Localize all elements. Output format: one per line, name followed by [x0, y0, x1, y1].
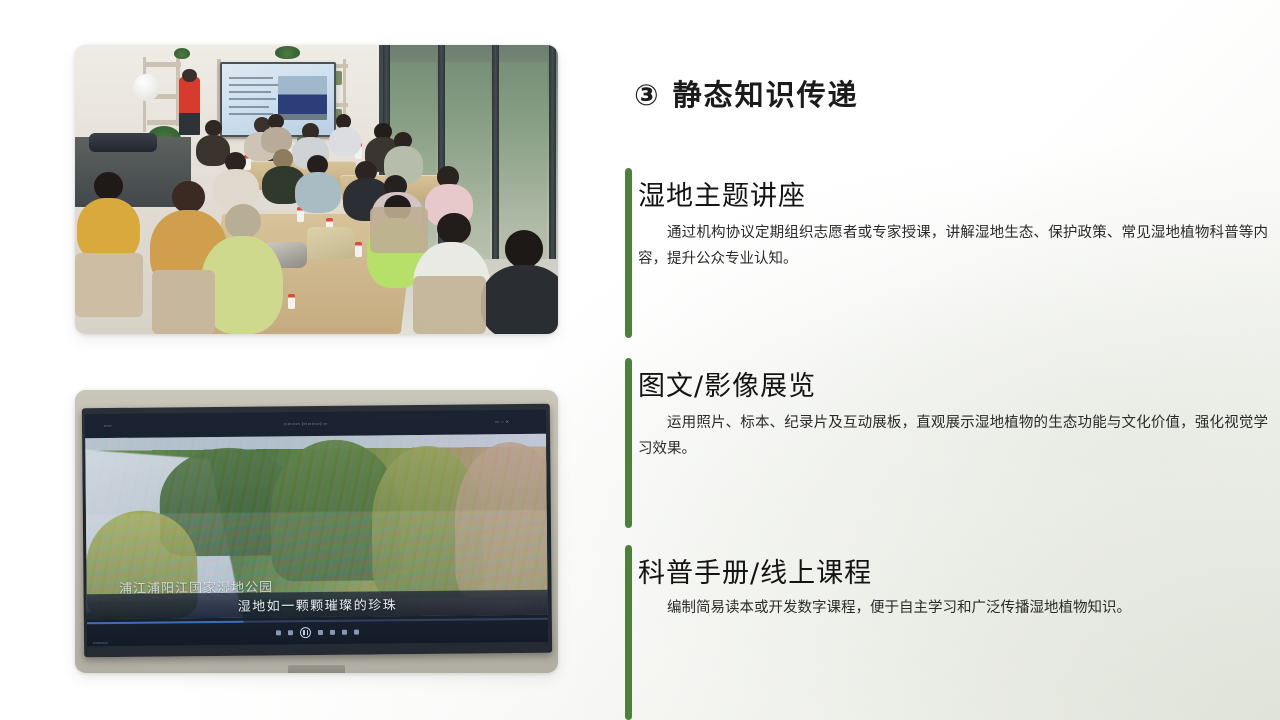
- forward-icon[interactable]: [318, 629, 323, 634]
- section-body: 通过机构协议定期组织志愿者或专家授课，讲解湿地生态、保护政策、常见湿地植物科普等…: [638, 220, 1268, 272]
- audience-head: [94, 172, 123, 199]
- monitor-screen: ▭▭ ▭▭▭▭ (▭▭▭▭) ▭ ▭ ─ ✕ 浦江浦阳江国家湿地公园: [85, 409, 548, 645]
- slide-text-line: [229, 84, 278, 86]
- presenter-head: [182, 69, 196, 82]
- audience-head: [505, 230, 544, 268]
- fullscreen-icon[interactable]: [354, 629, 359, 634]
- slide-text-line: [229, 113, 274, 115]
- slide-text-line: [229, 106, 269, 108]
- next-icon[interactable]: [330, 629, 335, 634]
- tote-bag: [307, 227, 355, 259]
- chair: [413, 276, 485, 334]
- monitor-bezel: ▭▭ ▭▭▭▭ (▭▭▭▭) ▭ ▭ ─ ✕ 浦江浦阳江国家湿地公园: [82, 403, 552, 657]
- shelf-board: [143, 62, 182, 67]
- accent-bar: [625, 358, 632, 528]
- section-body: 运用照片、标本、纪录片及互动展板，直观展示湿地植物的生态功能与文化价值，强化视觉…: [638, 410, 1268, 462]
- player-menu-label: ▭▭: [103, 423, 111, 428]
- playback-controls[interactable]: [87, 622, 548, 642]
- slide-image: [278, 76, 327, 120]
- section-wetland-lecture: 湿地主题讲座 通过机构协议定期组织志愿者或专家授课，讲解湿地生态、保护政策、常见…: [620, 168, 1280, 338]
- slide-text-line: [229, 77, 274, 79]
- accent-bar: [625, 168, 632, 338]
- chair: [152, 270, 215, 334]
- water-bottle: [288, 294, 295, 310]
- audience-head: [172, 181, 206, 213]
- pause-icon[interactable]: [300, 626, 311, 637]
- audience-head: [437, 213, 471, 245]
- audience-person: [213, 169, 259, 209]
- wetland-video-photo[interactable]: ▭▭ ▭▭▭▭ (▭▭▭▭) ▭ ▭ ─ ✕ 浦江浦阳江国家湿地公园: [75, 390, 558, 673]
- section-heading: 图文/影像展览: [638, 364, 816, 403]
- previous-icon[interactable]: [276, 630, 281, 635]
- volume-icon[interactable]: [342, 629, 347, 634]
- slide-canvas: ▭▭ ▭▭▭▭ (▭▭▭▭) ▭ ▭ ─ ✕ 浦江浦阳江国家湿地公园: [0, 0, 1280, 720]
- accent-bar: [625, 545, 632, 720]
- water-bottle: [355, 242, 362, 258]
- lecture-room-photo-content: [75, 45, 558, 334]
- audience-person: [295, 172, 341, 212]
- monitor-stand: [288, 665, 346, 673]
- presenter-figure: [179, 77, 200, 135]
- counter-bag: [89, 133, 157, 152]
- player-title-label: ▭▭▭▭ (▭▭▭▭) ▭: [283, 421, 327, 426]
- audience-person: [329, 127, 362, 156]
- audience-person: [481, 265, 558, 334]
- section-handbook-online-course: 科普手册/线上课程 编制简易读本或开发数字课程，便于自主学习和广泛传播湿地植物知…: [620, 545, 1280, 720]
- chair: [370, 207, 428, 253]
- page-title: ③ 静态知识传递: [634, 72, 859, 114]
- slide-text-line: [229, 98, 276, 100]
- section-heading: 科普手册/线上课程: [638, 551, 872, 590]
- content-column: ③ 静态知识传递 湿地主题讲座 通过机构协议定期组织志愿者或专家授课，讲解湿地生…: [620, 0, 1280, 720]
- slide-text-line: [229, 91, 272, 93]
- video-subtitle-text: 湿地如一颗颗璀璨的珍珠: [237, 594, 397, 615]
- shelf-board: [147, 120, 181, 125]
- video-frame: 浦江浦阳江国家湿地公园 湿地如一颗颗璀璨的珍珠: [85, 434, 548, 619]
- section-heading: 湿地主题讲座: [638, 174, 806, 213]
- wetland-video-photo-content: ▭▭ ▭▭▭▭ (▭▭▭▭) ▭ ▭ ─ ✕ 浦江浦阳江国家湿地公园: [75, 390, 558, 673]
- chair: [75, 253, 143, 317]
- audience-head: [205, 120, 221, 136]
- rewind-icon[interactable]: [288, 630, 293, 635]
- window-controls: ▭ ─ ✕: [495, 419, 509, 424]
- video-player-controls[interactable]: ▭▭▭▭: [87, 614, 548, 645]
- taskbar-label: ▭▭▭▭: [93, 640, 108, 645]
- video-subtitle-band: 湿地如一颗颗璀璨的珍珠: [87, 589, 548, 619]
- audience-head: [225, 204, 262, 239]
- section-body: 编制简易读本或开发数字课程，便于自主学习和广泛传播湿地植物知识。: [638, 595, 1268, 621]
- hanging-plant: [275, 46, 299, 59]
- section-image-exhibition: 图文/影像展览 运用照片、标本、纪录片及互动展板，直观展示湿地植物的生态功能与文…: [620, 358, 1280, 528]
- lecture-room-photo[interactable]: [75, 45, 558, 334]
